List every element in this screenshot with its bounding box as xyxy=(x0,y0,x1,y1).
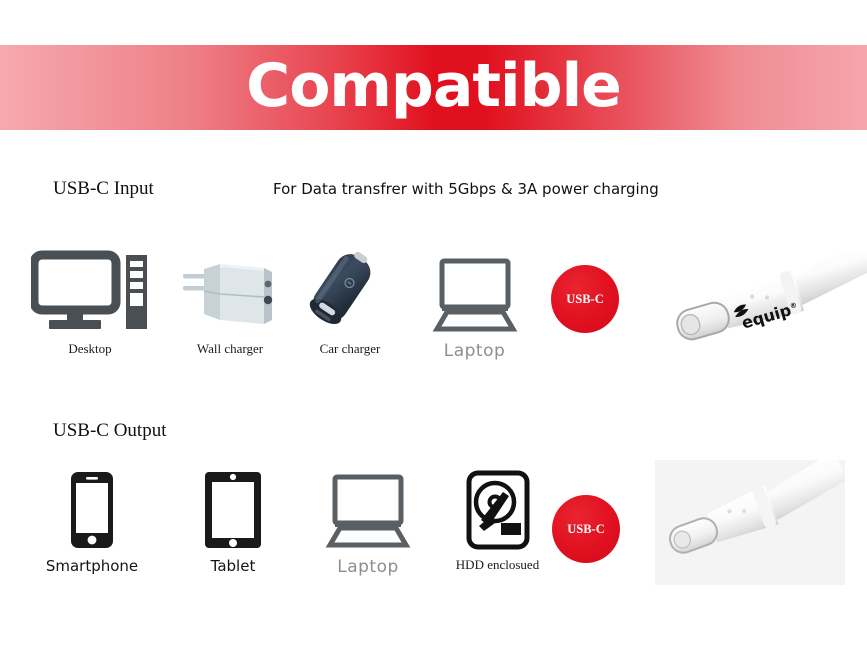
compat-item-label: Desktop xyxy=(68,341,111,357)
compat-item-car-charger: Car charger xyxy=(295,248,405,357)
compat-item-label: Smartphone xyxy=(46,557,138,575)
laptop-icon xyxy=(321,470,415,550)
compat-item-smartphone: Smartphone xyxy=(38,468,146,575)
laptop-icon xyxy=(428,248,522,334)
tablet-icon xyxy=(202,468,264,550)
compat-item-desktop: Desktop xyxy=(30,248,150,357)
compat-item-label: Car charger xyxy=(320,341,381,357)
compat-item-laptop-input: Laptop xyxy=(422,248,527,361)
smartphone-icon xyxy=(67,468,117,550)
usb-c-cable-with-equip-logo: equip® xyxy=(653,253,867,368)
banner-title: Compatible xyxy=(246,56,621,120)
usb-c-badge-input: USB-C xyxy=(551,265,619,333)
compat-item-label: HDD enclosued xyxy=(456,557,539,573)
compatible-banner: Compatible xyxy=(0,45,867,130)
usb-c-badge-output: USB-C xyxy=(552,495,620,563)
input-tagline: For Data transfrer with 5Gbps & 3A power… xyxy=(273,180,659,198)
usb-c-output-heading: USB-C Output xyxy=(53,420,167,442)
usb-c-badge-label: USB-C xyxy=(567,522,605,537)
usb-c-badge-label: USB-C xyxy=(566,292,604,307)
compat-item-laptop-output: Laptop xyxy=(318,470,418,577)
compat-item-tablet: Tablet xyxy=(183,468,283,575)
usb-c-input-heading: USB-C Input xyxy=(53,178,154,200)
hard-disk-drive-icon xyxy=(465,468,531,550)
usb-c-cable-plain xyxy=(655,460,845,585)
compat-item-hdd-enclosure: HDD enclosued xyxy=(445,468,550,573)
compat-item-label: Laptop xyxy=(444,341,506,361)
car-charger-icon xyxy=(300,248,400,334)
compat-item-label: Tablet xyxy=(211,557,256,575)
wall-charger-icon xyxy=(180,248,280,334)
compat-item-wall-charger: Wall charger xyxy=(175,248,285,357)
desktop-computer-icon xyxy=(31,248,149,334)
compat-item-label: Laptop xyxy=(337,557,399,577)
compat-item-label: Wall charger xyxy=(197,341,263,357)
